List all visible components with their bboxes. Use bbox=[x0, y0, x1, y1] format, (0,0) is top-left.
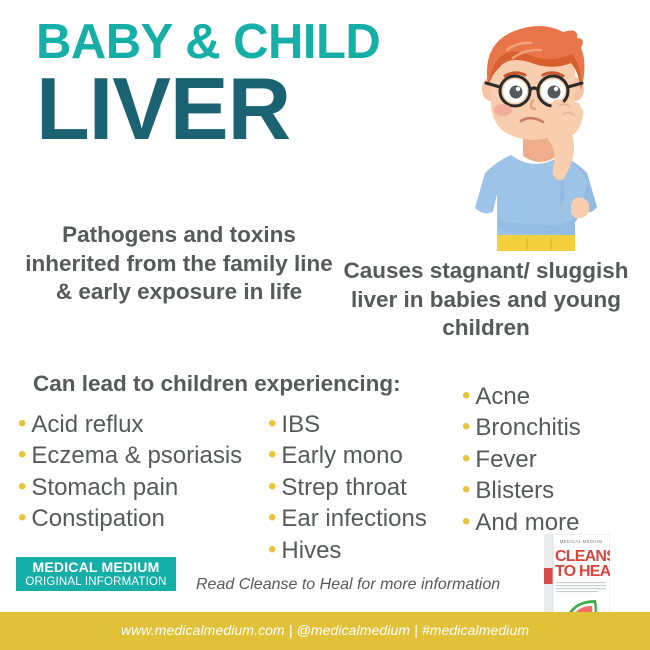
read-book-note: Read Cleanse to Heal for more informatio… bbox=[196, 576, 500, 594]
page-title-line2: LIVER bbox=[36, 68, 466, 150]
list-item-label: Early mono bbox=[281, 440, 402, 471]
bullet-dot-icon: • bbox=[18, 412, 26, 436]
bullet-dot-icon: • bbox=[462, 415, 470, 439]
list-item-label: Acid reflux bbox=[31, 409, 143, 440]
symptom-column-2: • IBS • Early mono • Strep throat • Ear … bbox=[268, 409, 427, 566]
list-item-label: Bronchitis bbox=[475, 412, 580, 443]
list-item-label: Fever bbox=[475, 444, 536, 475]
list-item: • Acid reflux bbox=[18, 409, 242, 440]
bullet-dot-icon: • bbox=[18, 443, 26, 467]
bullet-dot-icon: • bbox=[268, 506, 276, 530]
medical-medium-badge: MEDICAL MEDIUM ORIGINAL INFORMATION bbox=[16, 557, 176, 591]
bullet-dot-icon: • bbox=[18, 506, 26, 530]
list-item: • Strep throat bbox=[268, 472, 427, 503]
list-item: • Ear infections bbox=[268, 503, 427, 534]
list-heading: Can lead to children experiencing: bbox=[33, 371, 401, 397]
list-item: • Blisters bbox=[462, 475, 581, 506]
list-item: • Constipation bbox=[18, 503, 242, 534]
list-item-label: Hives bbox=[281, 535, 341, 566]
bullet-dot-icon: • bbox=[462, 478, 470, 502]
badge-title: MEDICAL MEDIUM bbox=[16, 560, 176, 576]
list-item-label: Stomach pain bbox=[31, 472, 178, 503]
bullet-dot-icon: • bbox=[268, 443, 276, 467]
badge-subtitle: ORIGINAL INFORMATION bbox=[16, 576, 176, 589]
svg-text:MEDICAL MEDIUM: MEDICAL MEDIUM bbox=[560, 539, 603, 544]
bullet-dot-icon: • bbox=[268, 475, 276, 499]
svg-text:TO HEAL: TO HEAL bbox=[555, 563, 610, 580]
list-item-label: Acne bbox=[475, 381, 530, 412]
infographic-poster: BABY & CHILD LIVER bbox=[0, 0, 650, 650]
bullet-dot-icon: • bbox=[268, 538, 276, 562]
list-item: • Early mono bbox=[268, 440, 427, 471]
footer-links: www.medicalmedium.com | @medicalmedium |… bbox=[0, 622, 650, 638]
bullet-dot-icon: • bbox=[462, 447, 470, 471]
title-block: BABY & CHILD LIVER bbox=[36, 18, 466, 150]
paragraph-inherited-toxins: Pathogens and toxins inherited from the … bbox=[14, 221, 344, 307]
bullet-dot-icon: • bbox=[18, 475, 26, 499]
list-item-label: Constipation bbox=[31, 503, 164, 534]
bullet-dot-icon: • bbox=[462, 510, 470, 534]
symptom-column-1: • Acid reflux • Eczema & psoriasis • Sto… bbox=[18, 409, 242, 535]
list-item-label: Eczema & psoriasis bbox=[31, 440, 242, 471]
list-item-label: IBS bbox=[281, 409, 320, 440]
symptom-column-3: • Acne • Bronchitis • Fever • Blisters •… bbox=[462, 381, 581, 538]
bullet-dot-icon: • bbox=[268, 412, 276, 436]
list-item-label: Ear infections bbox=[281, 503, 426, 534]
paragraph-stagnant-liver: Causes stagnant/ sluggish liver in babie… bbox=[340, 257, 632, 343]
footer-bar: www.medicalmedium.com | @medicalmedium |… bbox=[0, 612, 650, 650]
list-item: • Bronchitis bbox=[462, 412, 581, 443]
list-item-label: Blisters bbox=[475, 475, 554, 506]
list-item: • Eczema & psoriasis bbox=[18, 440, 242, 471]
list-item-label: Strep throat bbox=[281, 472, 406, 503]
list-item: • Stomach pain bbox=[18, 472, 242, 503]
bullet-dot-icon: • bbox=[462, 384, 470, 408]
list-item: • Fever bbox=[462, 444, 581, 475]
list-item: • Hives bbox=[268, 535, 427, 566]
worried-boy-illustration bbox=[455, 16, 625, 256]
list-item: • Acne bbox=[462, 381, 581, 412]
list-item: • IBS bbox=[268, 409, 427, 440]
